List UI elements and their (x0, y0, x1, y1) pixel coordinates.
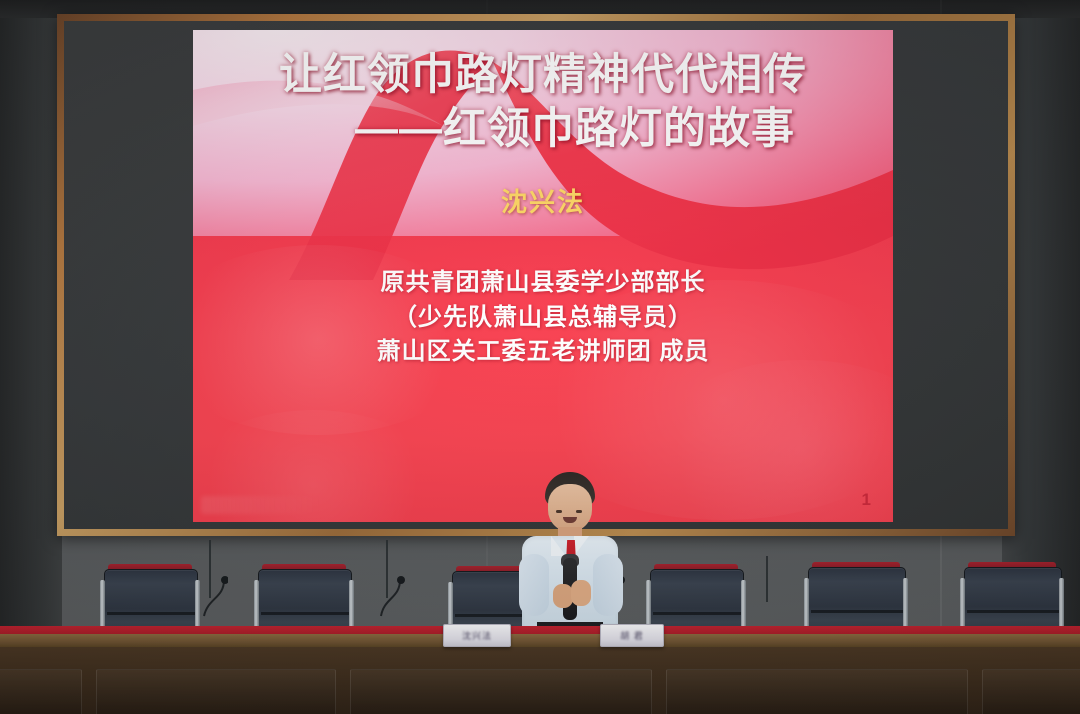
slide-credentials: 原共青团萧山县委学少部部长 （少先队萧山县总辅导员） 萧山区关工委五老讲师团 成… (193, 266, 893, 370)
name-plate-right: 胡 君 (600, 624, 664, 647)
table-top-edge (0, 634, 1080, 648)
slide-speaker-name: 沈兴法 (193, 182, 893, 219)
chair-seam (967, 610, 1059, 613)
table-panel (0, 669, 82, 714)
speaker-collar-left (551, 536, 566, 556)
speaker-eye-left (556, 510, 562, 513)
name-plate-left: 沈兴法 (443, 624, 511, 647)
wall-left-dark-panel (0, 18, 62, 660)
speaker-face (548, 484, 592, 532)
microphone-4-pole (766, 556, 768, 602)
chair-seam (653, 612, 741, 615)
credential-line-1: 原共青团萧山县委学少部部长 (193, 266, 893, 301)
speaker-person (505, 472, 635, 644)
credential-line-2: （少先队萧山县总辅导员） (193, 301, 893, 336)
slide-text-block: 让红领巾路灯精神代代相传 ——红领巾路灯的故事 沈兴法 原共青团萧山县委学少部部… (193, 30, 893, 522)
projection-screen-panel: 让红领巾路灯精神代代相传 ——红领巾路灯的故事 沈兴法 原共青团萧山县委学少部部… (64, 21, 1008, 529)
microphone-2-gooseneck (376, 576, 406, 622)
speaker-collar-right (574, 536, 589, 556)
chair-seam (261, 612, 349, 615)
speaker-arm-left (519, 554, 549, 616)
slide-title: 让红领巾路灯精神代代相传 ——红领巾路灯的故事 (193, 48, 893, 156)
table-front-face (0, 647, 1080, 714)
slide-corner-artifact (201, 496, 321, 514)
name-plate-left-text: 沈兴法 (462, 629, 492, 642)
projection-screen-frame: 让红领巾路灯精神代代相传 ——红领巾路灯的故事 沈兴法 原共青团萧山县委学少部部… (57, 14, 1015, 536)
speaker-arm-right (593, 554, 623, 616)
slide-page-number: 1 (862, 490, 871, 510)
name-plate-right-text: 胡 君 (620, 629, 644, 642)
slide-title-line-2: ——红领巾路灯的故事 (193, 102, 893, 156)
chair-seam (107, 612, 195, 615)
table-panel (666, 669, 968, 714)
screenshot-canvas: 让红领巾路灯精神代代相传 ——红领巾路灯的故事 沈兴法 原共青团萧山县委学少部部… (0, 0, 1080, 714)
chair-seam (811, 610, 903, 613)
presentation-slide[interactable]: 让红领巾路灯精神代代相传 ——红领巾路灯的故事 沈兴法 原共青团萧山县委学少部部… (193, 30, 893, 522)
conference-table (0, 634, 1080, 714)
speaker-hand-left (553, 584, 573, 608)
speaker-eye-right (576, 510, 582, 513)
slide-title-line-1: 让红领巾路灯精神代代相传 (279, 51, 807, 99)
table-panel (982, 669, 1080, 714)
credential-line-3: 萧山区关工委五老讲师团 成员 (193, 335, 893, 370)
table-panel (96, 669, 336, 714)
speaker-hand-right (571, 580, 591, 606)
microphone-1-gooseneck (198, 576, 228, 622)
table-panel (350, 669, 652, 714)
